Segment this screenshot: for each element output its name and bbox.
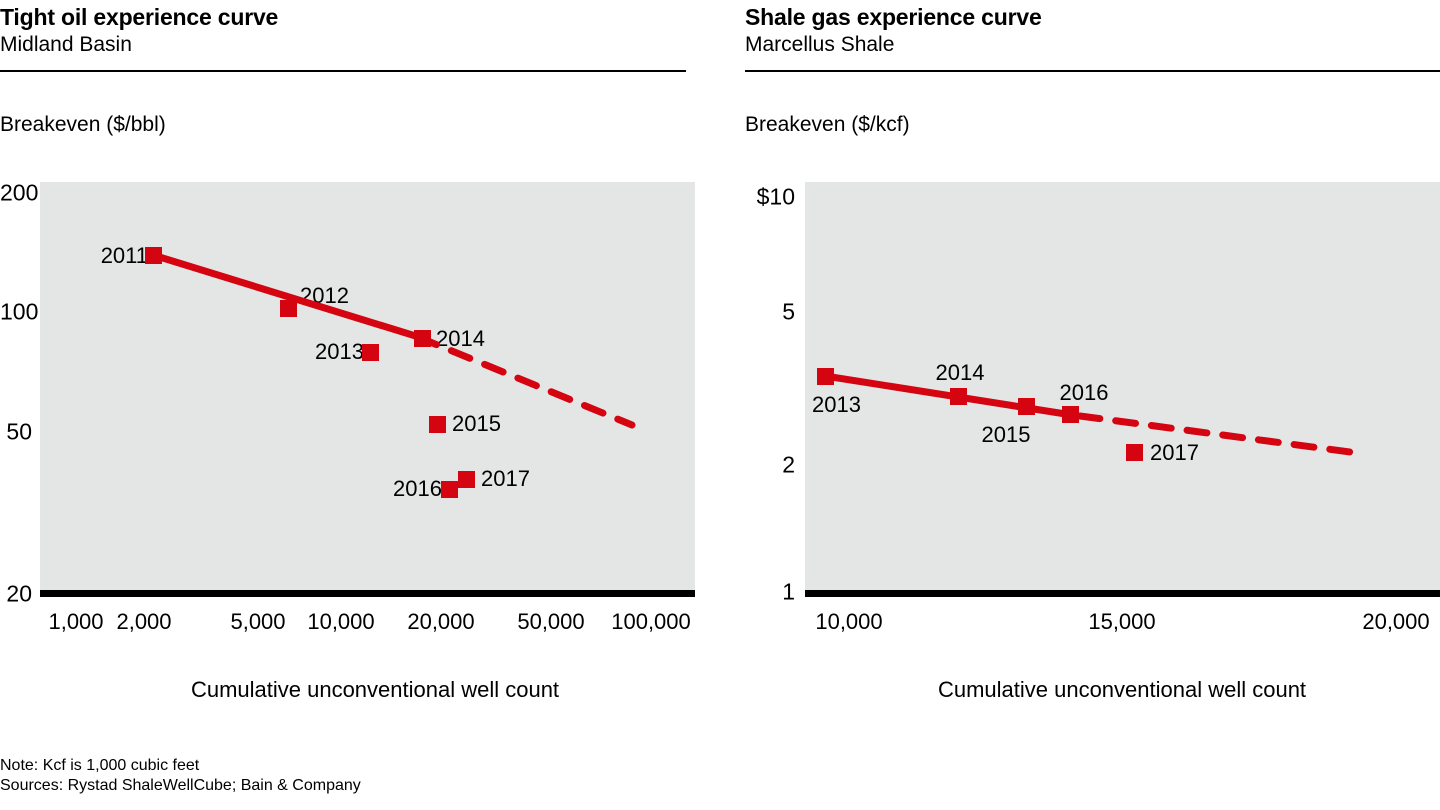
left-ytick-100: 100 <box>0 299 32 326</box>
left-point-label-2017: 2017 <box>481 466 530 492</box>
left-xtick-20000: 20,000 <box>407 609 474 635</box>
right-point-label-2017: 2017 <box>1150 440 1199 466</box>
left-xtick-5000: 5,000 <box>230 609 285 635</box>
left-point-label-2013: 2013 <box>315 339 364 365</box>
footnote-sources: Sources: Rystad ShaleWellCube; Bain & Co… <box>0 776 361 796</box>
left-xtick-10000: 10,000 <box>307 609 374 635</box>
left-ytick-50: 50 <box>0 419 32 446</box>
right-xtick-15000: 15,000 <box>1088 609 1155 635</box>
right-point-label-2016: 2016 <box>1060 380 1109 406</box>
left-xtick-50000: 50,000 <box>517 609 584 635</box>
right-x-axis-title: Cumulative unconventional well count <box>938 677 1306 703</box>
left-ytick-200: 200 <box>0 180 32 207</box>
right-ytick-1: 1 <box>735 579 795 606</box>
left-y-axis-unit: Breakeven ($/bbl) <box>0 113 166 137</box>
left-panel-title: Tight oil experience curve <box>0 4 278 31</box>
right-point-label-2013: 2013 <box>812 392 861 418</box>
left-xtick-100000: 100,000 <box>611 609 691 635</box>
left-xtick-2000: 2,000 <box>116 609 171 635</box>
left-x-axis-title: Cumulative unconventional well count <box>191 677 559 703</box>
right-y-axis-unit: Breakeven ($/kcf) <box>745 113 910 137</box>
right-point-label-2014: 2014 <box>936 360 985 386</box>
right-header-rule <box>745 70 1440 72</box>
left-panel-subtitle: Midland Basin <box>0 33 132 57</box>
right-panel-subtitle: Marcellus Shale <box>745 33 894 57</box>
left-point-label-2014: 2014 <box>436 326 485 352</box>
right-ytick-2: 2 <box>735 452 795 479</box>
left-xtick-1000: 1,000 <box>48 609 103 635</box>
right-point-label-2015: 2015 <box>982 422 1031 448</box>
left-header-rule <box>0 70 686 72</box>
left-x-axis-line <box>40 590 695 597</box>
right-plot-area <box>805 182 1440 592</box>
footnotes: Note: Kcf is 1,000 cubic feet Sources: R… <box>0 756 361 796</box>
right-panel-title: Shale gas experience curve <box>745 4 1042 31</box>
right-xtick-10000: 10,000 <box>815 609 882 635</box>
right-xtick-20000: 20,000 <box>1362 609 1429 635</box>
left-ytick-20: 20 <box>0 581 32 608</box>
left-point-label-2012: 2012 <box>300 283 349 309</box>
footnote-note: Note: Kcf is 1,000 cubic feet <box>0 756 361 776</box>
right-ytick-5: 5 <box>735 299 795 326</box>
left-point-label-2016: 2016 <box>393 476 442 502</box>
left-point-label-2011: 2011 <box>101 243 148 269</box>
right-x-axis-line <box>805 590 1440 597</box>
left-point-label-2015: 2015 <box>452 411 501 437</box>
right-ytick-10: $10 <box>735 184 795 211</box>
